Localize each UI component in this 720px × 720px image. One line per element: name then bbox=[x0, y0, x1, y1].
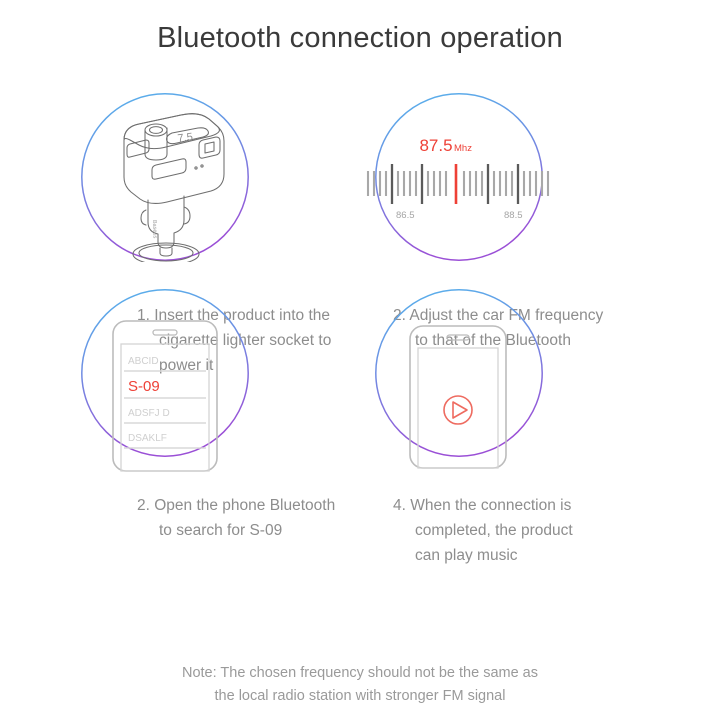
fm-scale-min-label: 86.5 bbox=[396, 210, 415, 221]
bluetooth-device-list: ABCID S-09 ADSFJ D DSAKLF bbox=[124, 356, 206, 448]
device-item-dsaklf: DSAKLF bbox=[128, 433, 167, 444]
fm-scale-max-label: 88.5 bbox=[504, 210, 523, 221]
fm-dial-icon: 87.5 Mhz bbox=[374, 92, 544, 262]
fm-frequency-unit: Mhz bbox=[454, 143, 472, 154]
steps-grid: 7.5 bbox=[0, 80, 720, 472]
step-2-circle: 87.5 Mhz bbox=[374, 92, 544, 262]
device-item-adsfjd: ADSFJ D bbox=[128, 408, 170, 419]
phone-bluetooth-list-icon: ABCID S-09 ADSFJ D DSAKLF bbox=[80, 288, 250, 458]
step-4-caption-text: 4. When the connection is completed, the… bbox=[393, 493, 573, 568]
svg-text:Baseus: Baseus bbox=[151, 220, 158, 239]
car-charger-icon: 7.5 bbox=[80, 92, 250, 262]
step-adjust-frequency: 87.5 Mhz bbox=[360, 80, 720, 276]
page-title: Bluetooth connection operation bbox=[0, 22, 720, 55]
svg-text:7.5: 7.5 bbox=[177, 131, 194, 145]
steps-row-top: 7.5 bbox=[0, 80, 720, 276]
step-4-illustration-area bbox=[360, 276, 720, 472]
step-2-illustration-area: 87.5 Mhz bbox=[360, 80, 720, 276]
step-3-circle: ABCID S-09 ADSFJ D DSAKLF bbox=[80, 288, 250, 458]
phone-speaker-slot bbox=[153, 330, 177, 335]
step-3-caption: 2. Open the phone Bluetooth to search fo… bbox=[137, 468, 367, 543]
step-play-music: 4. When the connection is completed, the… bbox=[360, 276, 720, 472]
phone-screen bbox=[418, 348, 498, 468]
steps-row-bottom: ABCID S-09 ADSFJ D DSAKLF 2. Open the p bbox=[0, 276, 720, 472]
fm-frequency-value: 87.5 bbox=[419, 136, 452, 155]
step-insert-product: 7.5 bbox=[0, 80, 360, 276]
fm-ticks-short bbox=[368, 171, 548, 196]
step-1-illustration-area: 7.5 bbox=[0, 80, 360, 276]
step-open-bluetooth: ABCID S-09 ADSFJ D DSAKLF 2. Open the p bbox=[0, 276, 360, 472]
step-4-circle bbox=[374, 288, 544, 458]
step-4-caption: 4. When the connection is completed, the… bbox=[393, 468, 628, 568]
play-circle-icon bbox=[444, 396, 472, 424]
device-item-s09: S-09 bbox=[128, 378, 160, 395]
phone-speaker-slot bbox=[447, 335, 469, 340]
step-3-caption-text: 2. Open the phone Bluetooth to search fo… bbox=[137, 493, 335, 543]
footer-note: Note: The chosen frequency should not be… bbox=[0, 662, 720, 708]
device-item-abcid: ABCID bbox=[128, 356, 159, 367]
step-1-circle: 7.5 bbox=[80, 92, 250, 262]
step-3-illustration-area: ABCID S-09 ADSFJ D DSAKLF bbox=[0, 276, 360, 472]
phone-play-icon bbox=[374, 288, 544, 458]
